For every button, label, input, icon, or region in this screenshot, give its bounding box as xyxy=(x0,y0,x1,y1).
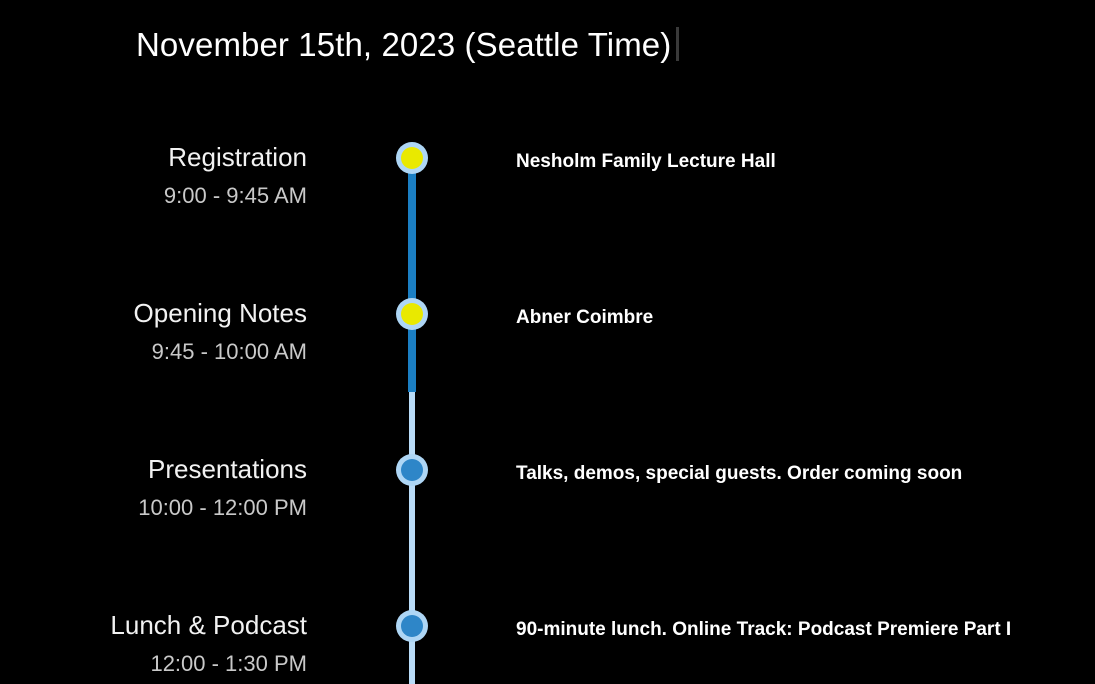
timeline-row: Presentations 10:00 - 12:00 PM Talks, de… xyxy=(0,430,1095,586)
event-detail: Talks, demos, special guests. Order comi… xyxy=(516,461,1095,487)
event-time: 10:00 - 12:00 PM xyxy=(0,493,307,523)
event-name: Lunch & Podcast xyxy=(0,608,307,642)
timeline-marker-upcoming-icon[interactable] xyxy=(396,610,428,642)
timeline: Registration 9:00 - 9:45 AM Nesholm Fami… xyxy=(0,118,1095,684)
event-name: Registration xyxy=(0,140,307,174)
timeline-row: Registration 9:00 - 9:45 AM Nesholm Fami… xyxy=(0,118,1095,274)
timeline-row-left: Registration 9:00 - 9:45 AM xyxy=(0,140,307,211)
timeline-marker-done-icon[interactable] xyxy=(396,142,428,174)
event-name: Opening Notes xyxy=(0,296,307,330)
timeline-row-left: Opening Notes 9:45 - 10:00 AM xyxy=(0,296,307,367)
event-time: 9:00 - 9:45 AM xyxy=(0,181,307,211)
event-detail: Abner Coimbre xyxy=(516,305,1095,331)
event-time: 12:00 - 1:30 PM xyxy=(0,649,307,679)
timeline-marker-dot xyxy=(401,615,423,637)
timeline-marker-upcoming-icon[interactable] xyxy=(396,454,428,486)
timeline-marker-dot xyxy=(401,303,423,325)
timeline-row: Lunch & Podcast 12:00 - 1:30 PM 90-minut… xyxy=(0,586,1095,684)
schedule-page: November 15th, 2023 (Seattle Time) Regis… xyxy=(0,0,1095,684)
page-title-text: November 15th, 2023 (Seattle Time) xyxy=(136,23,671,67)
timeline-marker-dot xyxy=(401,147,423,169)
timeline-marker-done-icon[interactable] xyxy=(396,298,428,330)
timeline-marker-dot xyxy=(401,459,423,481)
event-detail: Nesholm Family Lecture Hall xyxy=(516,149,1095,175)
timeline-row-left: Presentations 10:00 - 12:00 PM xyxy=(0,452,307,523)
timeline-row: Opening Notes 9:45 - 10:00 AM Abner Coim… xyxy=(0,274,1095,430)
timeline-row-left: Lunch & Podcast 12:00 - 1:30 PM xyxy=(0,608,307,679)
page-title: November 15th, 2023 (Seattle Time) xyxy=(136,22,679,67)
text-caret xyxy=(676,27,679,61)
event-detail: 90-minute lunch. Online Track: Podcast P… xyxy=(516,617,1095,643)
event-name: Presentations xyxy=(0,452,307,486)
event-time: 9:45 - 10:00 AM xyxy=(0,337,307,367)
